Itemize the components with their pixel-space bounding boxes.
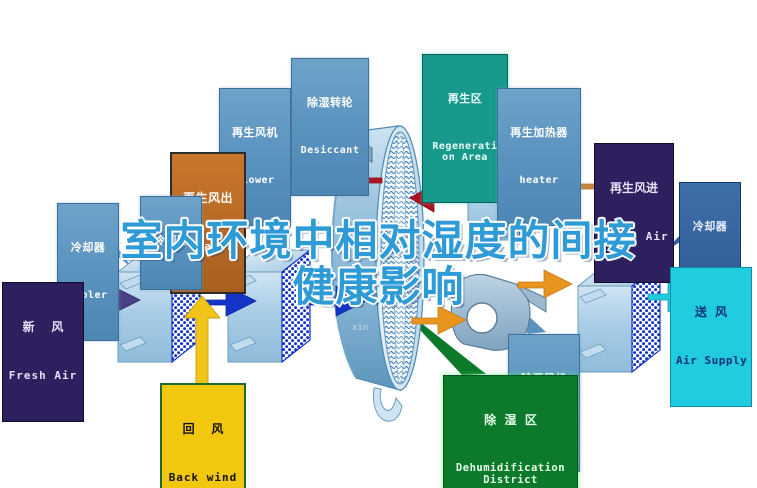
label-cooler-left-near-cn: 冷却器 (146, 235, 196, 247)
label-regeneration-area-cn: 再生区 (428, 93, 502, 105)
label-air-supply-cn: 送 风 (676, 306, 746, 319)
label-fresh-air-inlet[interactable]: 新 风 Fresh Air (2, 282, 84, 422)
label-fresh-air-inlet-cn: 新 风 (8, 321, 78, 334)
label-desiccant-wheel[interactable]: 除湿转轮 Desiccant (291, 58, 369, 196)
svg-text:xin: xin (352, 323, 368, 333)
label-air-supply[interactable]: 送 风 Air Supply (670, 267, 752, 407)
label-regeneration-area-en: Regenerati on Area (428, 141, 502, 163)
label-regeneration-heater-cn: 再生加热器 (503, 127, 575, 139)
label-regeneration-fresh-air-cn: 再生风进 (600, 182, 668, 195)
label-air-supply-en: Air Supply (676, 355, 746, 367)
label-regeneration-fresh-air-en: Fresh Air (600, 231, 668, 243)
label-back-wind-cn: 回 风 (167, 423, 239, 436)
label-desiccant-wheel-cn: 除湿转轮 (297, 97, 363, 109)
label-cooler-right-cn: 冷却器 (685, 221, 735, 233)
label-regeneration-fresh-air[interactable]: 再生风进 Fresh Air (594, 143, 674, 283)
label-cooler-left-far-cn: 冷却器 (63, 242, 113, 254)
label-back-wind-en: Back wind (167, 472, 239, 484)
label-regeneration-area[interactable]: 再生区 Regenerati on Area (422, 54, 508, 203)
label-dehumidification-district-cn: 除 湿 区 (449, 414, 572, 427)
label-desiccant-wheel-en: Desiccant (297, 145, 363, 156)
label-fresh-air-inlet-en: Fresh Air (8, 370, 78, 382)
label-regeneration-heater[interactable]: 再生加热器 heater (497, 88, 581, 226)
label-regeneration-blower-cn: 再生风机 (225, 127, 285, 139)
label-back-wind[interactable]: 回 风 Back wind (160, 383, 246, 488)
diagram-canvas: xin (0, 0, 757, 488)
label-regeneration-heater-en: heater (503, 175, 575, 186)
label-cooler-left-near[interactable]: 冷却器 (140, 196, 202, 290)
label-dehumidification-district-en: Dehumidification District (449, 463, 572, 487)
label-dehumidification-district[interactable]: 除 湿 区 Dehumidification District (443, 375, 578, 488)
